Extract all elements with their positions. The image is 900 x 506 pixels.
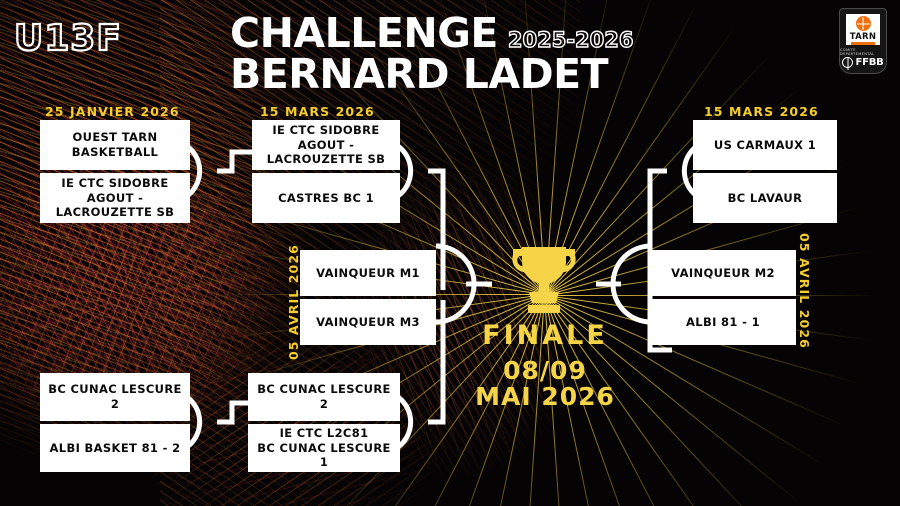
tournament-bracket-poster: U13F CHALLENGE2025-2026 BERNARD LADET TA… <box>0 0 900 506</box>
match-box-left-r2-team1[interactable]: IE CTC SIDOBRE AGOUT -LACROUZETTE SB <box>252 120 400 170</box>
match-box-left-r1-team1[interactable]: OUEST TARN BASKETBALL <box>40 120 190 170</box>
connector-left-bottom-step <box>217 403 252 422</box>
match-box-right-semi-team1[interactable]: VAINQUEUR M2 <box>650 250 796 296</box>
match-box-right-r2-team2[interactable]: BC LAVAUR <box>693 173 837 223</box>
match-box-left-b-r1-team1[interactable]: BC CUNAC LESCURE 2 <box>40 373 190 421</box>
match-box-left-b-r1-team2[interactable]: ALBI BASKET 81 - 2 <box>40 424 190 472</box>
date-right-semi: 05 AVRIL 2026 <box>797 233 812 349</box>
poster-title: CHALLENGE2025-2026 BERNARD LADET <box>230 12 680 95</box>
category-logo-u13f: U13F <box>14 18 122 59</box>
logo-upper-panel: TARN <box>846 14 880 45</box>
logo-club-name: TARN <box>850 33 877 42</box>
tarn-ffbb-logo: TARN COMITE DEPARTEMENTAL FFBB <box>839 8 887 74</box>
ffbb-ball-icon <box>842 57 853 68</box>
logo-subtitle: COMITE DEPARTEMENTAL <box>840 48 886 56</box>
match-box-left-b-r2-team1[interactable]: BC CUNAC LESCURE 2 <box>248 373 400 421</box>
logo-federation: FFBB <box>842 57 883 68</box>
date-right-round2: 15 MARS 2026 <box>704 104 819 119</box>
date-left-semi: 05 AVRIL 2026 <box>286 244 301 360</box>
match-box-left-semi-team1[interactable]: VAINQUEUR M1 <box>300 250 436 296</box>
basketball-icon <box>856 16 871 31</box>
finale-date-line1: 08/09 <box>455 356 635 385</box>
match-box-right-semi-team2[interactable]: ALBI 81 - 1 <box>650 299 796 345</box>
match-box-right-r2-team1[interactable]: US CARMAUX 1 <box>693 120 837 170</box>
date-left-round2: 15 MARS 2026 <box>260 104 375 119</box>
date-left-round1: 25 JANVIER 2026 <box>45 104 180 119</box>
match-box-left-semi-team2[interactable]: VAINQUEUR M3 <box>300 299 436 345</box>
title-line-2: BERNARD LADET <box>230 53 680 96</box>
match-box-left-r1-team2[interactable]: IE CTC SIDOBRE AGOUT -LACROUZETTE SB <box>40 173 190 223</box>
logo-accent-bar <box>851 42 875 45</box>
finale-date-line2: MAI 2026 <box>455 382 635 411</box>
logo-federation-text: FFBB <box>855 57 883 68</box>
season-label: 2025-2026 <box>508 28 634 52</box>
connector-left-top-step <box>217 152 256 171</box>
trophy-icon <box>505 244 583 316</box>
match-box-left-b-r2-team2[interactable]: IE CTC L2C81BC CUNAC LESCURE 1 <box>248 424 400 472</box>
match-box-left-r2-team2[interactable]: CASTRES BC 1 <box>252 173 400 223</box>
title-line-1: CHALLENGE2025-2026 <box>230 12 680 55</box>
finale-label: FINALE <box>455 320 635 351</box>
